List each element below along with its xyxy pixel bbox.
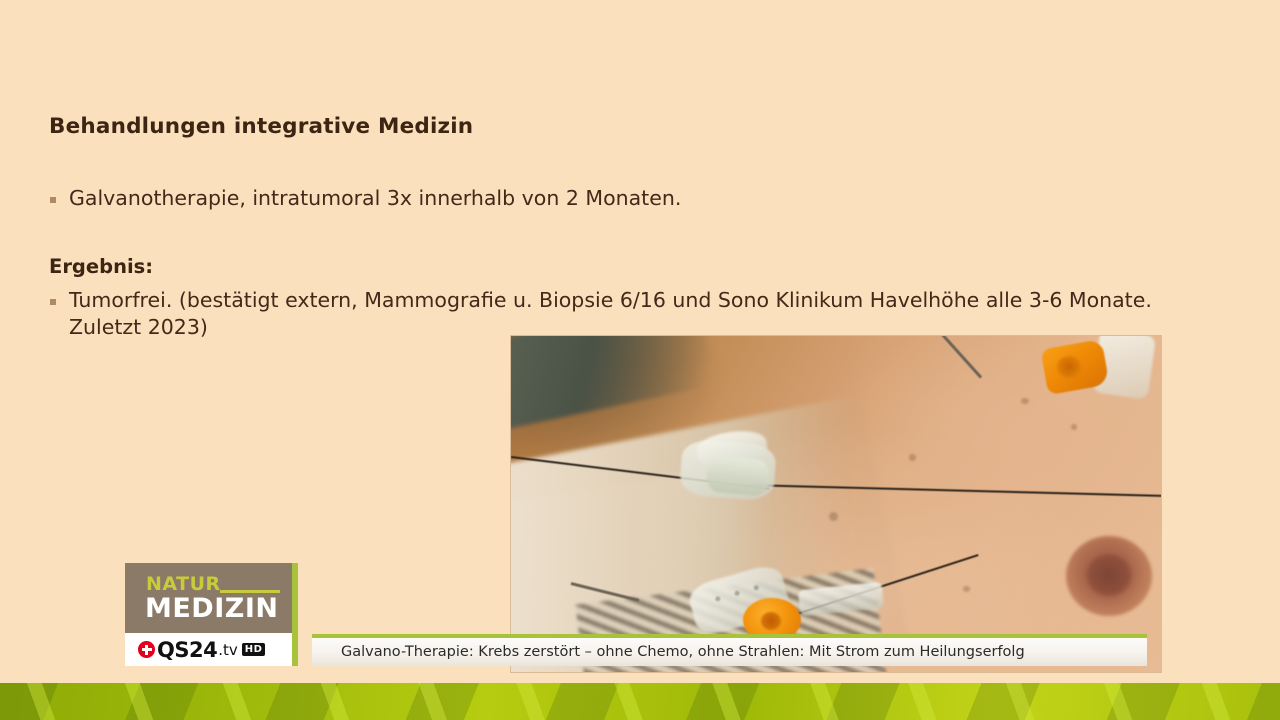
photo-skin-mark <box>909 454 916 461</box>
treatment-photo <box>511 336 1161 672</box>
logo-word-medizin: MEDIZIN <box>145 593 279 624</box>
channel-logo: NATUR MEDIZIN QS24 .tv HD <box>125 563 298 666</box>
photo-nipple <box>1086 554 1132 596</box>
bottom-green-band <box>0 683 1280 720</box>
cannula-port <box>761 612 781 630</box>
logo-channel-name: QS24 <box>157 638 217 662</box>
page-title: Behandlungen integrative Medizin <box>49 114 473 139</box>
photo-skin-mark <box>963 586 970 592</box>
swiss-cross-icon <box>138 641 155 658</box>
caption-text: Galvano-Therapie: Krebs zerstört – ohne … <box>312 644 1025 660</box>
bullet-marker-icon <box>50 197 56 203</box>
list-item: Tumorfrei. (bestätigt extern, Mammografi… <box>50 287 1230 341</box>
logo-word-natur: NATUR <box>146 573 221 595</box>
logo-lower-panel: QS24 .tv HD <box>125 633 292 666</box>
slide: Behandlungen integrative Medizin Galvano… <box>0 0 1280 720</box>
logo-tld: .tv <box>218 641 238 659</box>
photo-skin-mark <box>1021 398 1029 404</box>
photo-skin-mark <box>1071 424 1077 430</box>
photo-skin-mark <box>829 512 838 521</box>
list-item: Galvanotherapie, intratumoral 3x innerha… <box>50 185 950 212</box>
hd-badge: HD <box>242 643 266 656</box>
bullet-text: Tumorfrei. (bestätigt extern, Mammografi… <box>69 287 1230 341</box>
section-subheading: Ergebnis: <box>49 255 153 278</box>
butterfly-needle-body <box>706 455 771 496</box>
cannula-port <box>1057 356 1081 378</box>
bullet-text: Galvanotherapie, intratumoral 3x innerha… <box>69 185 681 212</box>
bullet-marker-icon <box>50 299 56 305</box>
lower-third-caption: Galvano-Therapie: Krebs zerstört – ohne … <box>312 634 1147 666</box>
logo-upper-panel: NATUR MEDIZIN <box>125 563 292 633</box>
